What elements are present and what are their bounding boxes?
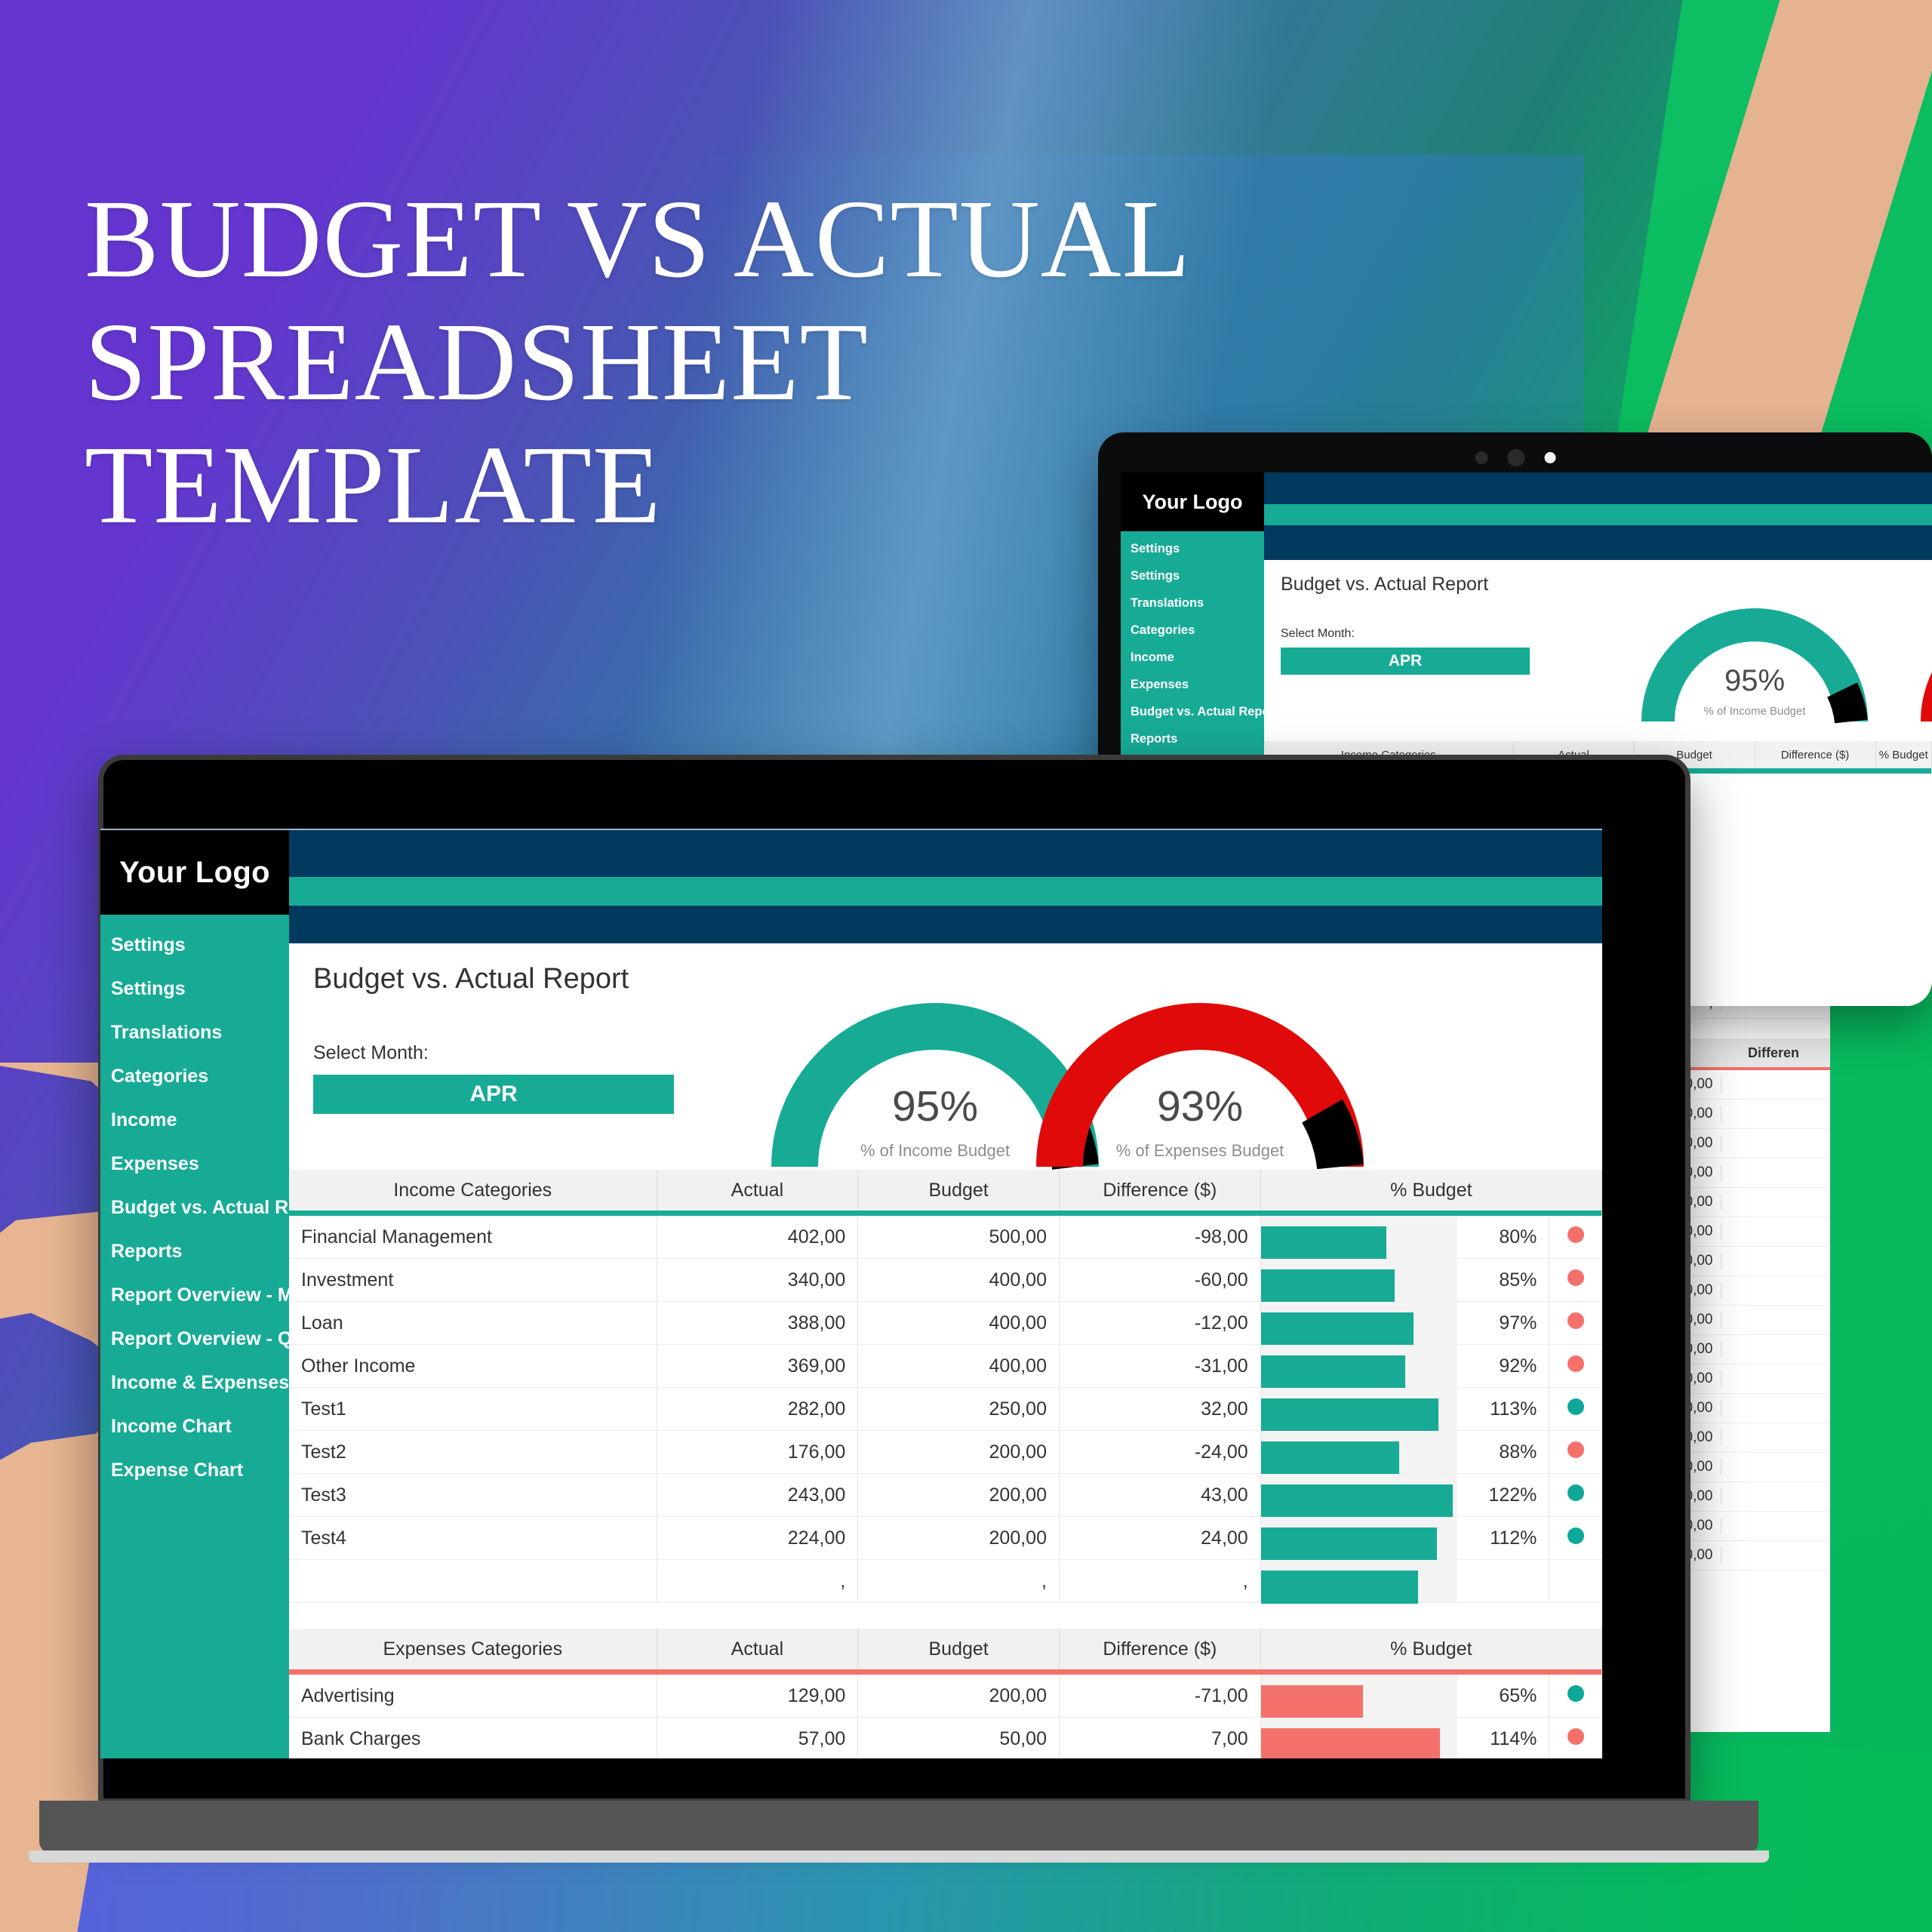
expenses-gauge-caption: % of Expenses Budget [1034, 1141, 1366, 1161]
tablet-expenses-gauge: 93% % of Expenses Budget [1921, 592, 1932, 724]
tablet-logo: Your Logo [1121, 472, 1264, 531]
cell-category: Test3 [289, 1474, 657, 1517]
status-badge [1567, 1685, 1584, 1702]
main-panel: Budget vs. Actual Report Select Month: A… [289, 830, 1602, 1758]
status-badge [1567, 1312, 1584, 1329]
report-area: Budget vs. Actual Report Select Month: A… [289, 943, 1602, 1758]
cell-status [1549, 1474, 1602, 1517]
tablet-sidebar-item-reports[interactable]: Reports [1131, 732, 1264, 746]
cell-category: Test2 [289, 1431, 657, 1474]
sidebar-item-reports[interactable]: Reports [111, 1241, 289, 1263]
tablet-sidebar-item-budget-vs-actual-report[interactable]: Budget vs. Actual Report [1131, 705, 1264, 719]
tablet-income-gauge-caption: % of Income Budget [1641, 705, 1868, 718]
headline-line-2: SPREADSHEET [85, 301, 990, 424]
peach-dot-2 [6, 1648, 29, 1662]
cell-status [1549, 1517, 1602, 1560]
cell-percent-bar [1260, 1718, 1457, 1759]
cell-difference: -12,00 [1059, 1302, 1260, 1345]
cell-actual: 224,00 [657, 1517, 858, 1560]
col-header-budget: % Budget [1260, 1170, 1601, 1211]
cell-percent-label: 85% [1457, 1259, 1549, 1302]
cell-difference: -60,00 [1059, 1259, 1260, 1302]
cell-actual: 282,00 [657, 1388, 858, 1431]
status-badge [1567, 1355, 1584, 1372]
sidebar-item-settings[interactable]: Settings [111, 978, 289, 1000]
cell-category: Other Income [289, 1345, 657, 1388]
col-header-budget: % Budget [1875, 741, 1932, 768]
cell-percent-label: 112% [1457, 1517, 1549, 1560]
cell-budget: 200,00 [858, 1517, 1060, 1560]
tablet-expenses-gauge-value: 93% [1921, 664, 1932, 698]
expenses-table-header-row: Expenses CategoriesActualBudgetDifferenc… [289, 1629, 1602, 1669]
table-row[interactable]: Advertising129,00200,00-71,0065% [289, 1675, 1602, 1718]
sidebar-item-expenses[interactable]: Expenses [111, 1153, 289, 1175]
sidebar: Your Logo SettingsSettingsTranslationsCa… [100, 830, 289, 1758]
cell-difference: 7,00 [1059, 1718, 1260, 1759]
sidebar-item-expense-chart[interactable]: Expense Chart [111, 1460, 289, 1481]
percent-bar-fill [1261, 1355, 1406, 1389]
laptop-screen: Your Logo SettingsSettingsTranslationsCa… [100, 829, 1602, 1758]
cell-actual: 388,00 [657, 1302, 858, 1345]
cell-percent-bar [1260, 1474, 1457, 1517]
table-row[interactable]: Test1282,00250,0032,00113% [289, 1388, 1602, 1431]
cell-difference: -31,00 [1059, 1345, 1260, 1388]
table-row[interactable]: Test2176,00200,00-24,0088% [289, 1431, 1602, 1474]
percent-bar-fill [1261, 1527, 1437, 1561]
tablet-sidebar-item-categories[interactable]: Categories [1131, 623, 1264, 638]
cell-percent-bar [1260, 1302, 1457, 1345]
sidebar-item-categories[interactable]: Categories [111, 1066, 289, 1088]
cell-actual: , [657, 1560, 858, 1603]
income-table-body: Financial Management402,00500,00-98,0080… [289, 1216, 1602, 1603]
headline-line-1: BUDGET VS ACTUAL [85, 178, 990, 301]
income-table-header-row: Income CategoriesActualBudgetDifference … [289, 1170, 1602, 1211]
cell-budget: 250,00 [858, 1388, 1060, 1431]
table-row[interactable]: Test3243,00200,0043,00122% [289, 1474, 1602, 1517]
cell-status [1549, 1345, 1602, 1388]
cell-difference: 24,00 [1059, 1517, 1260, 1560]
cell-actual: 402,00 [657, 1216, 858, 1259]
sensor-dot-icon [1544, 452, 1555, 463]
tablet-sidebar-item-settings[interactable]: Settings [1131, 569, 1264, 583]
status-badge [1567, 1484, 1584, 1501]
cell-percent-bar [1260, 1216, 1457, 1259]
col-header-difference: Difference ($) [1755, 741, 1875, 768]
tables-wrap: Income CategoriesActualBudgetDifference … [289, 1170, 1602, 1758]
laptop-app: Your Logo SettingsSettingsTranslationsCa… [100, 830, 1602, 1758]
cell-category: Test4 [289, 1517, 657, 1560]
cell-percent-bar [1260, 1517, 1457, 1560]
table-row[interactable]: Loan388,00400,00-12,0097% [289, 1302, 1602, 1345]
cell-status [1549, 1259, 1602, 1302]
cell-category [289, 1560, 657, 1603]
expenses-table-body: Advertising129,00200,00-71,0065%Bank Cha… [289, 1675, 1602, 1758]
cell-actual: 340,00 [657, 1259, 858, 1302]
cell-percent-bar [1260, 1675, 1457, 1718]
expenses-table: Expenses CategoriesActualBudgetDifferenc… [289, 1629, 1602, 1758]
col-header-actual: Actual [657, 1170, 858, 1211]
cell-category: Financial Management [289, 1216, 657, 1259]
status-badge [1567, 1527, 1584, 1544]
cell-difference: -24,00 [1059, 1431, 1260, 1474]
col-header-income-categories: Income Categories [289, 1170, 657, 1211]
logo: Your Logo [100, 830, 289, 915]
tablet-header-band-teal [1264, 504, 1932, 525]
cell-category: Advertising [289, 1675, 657, 1718]
cell-budget: 500,00 [858, 1216, 1060, 1259]
cell-difference: 32,00 [1059, 1388, 1260, 1431]
cell-percent-label: 92% [1457, 1345, 1549, 1388]
cell-actual: 243,00 [657, 1474, 858, 1517]
sidebar-item-income-chart[interactable]: Income Chart [111, 1416, 289, 1438]
cell-budget: 200,00 [858, 1474, 1060, 1517]
sidebar-item-budget-vs-actual-report[interactable]: Budget vs. Actual Report [111, 1197, 289, 1219]
percent-bar-fill [1261, 1269, 1395, 1303]
cell-difference: , [1059, 1560, 1260, 1603]
tablet-income-gauge: 95% % of Income Budget [1641, 592, 1868, 724]
cell-status [1549, 1388, 1602, 1431]
sidebar-item-settings[interactable]: Settings [111, 934, 289, 956]
cell-actual: 369,00 [657, 1345, 858, 1388]
col-header-actual: Actual [657, 1629, 858, 1669]
expenses-gauge-value: 93% [1034, 1081, 1366, 1131]
cell-percent-label: 114% [1457, 1718, 1549, 1759]
bg-hdr-difference: Differen [1717, 1045, 1830, 1061]
cell-percent-bar [1260, 1345, 1457, 1388]
cell-percent-bar [1260, 1388, 1457, 1431]
sidebar-item-income[interactable]: Income [111, 1109, 289, 1131]
table-spacer [289, 1603, 1602, 1629]
cell-category: Test1 [289, 1388, 657, 1431]
cell-actual: 176,00 [657, 1431, 858, 1474]
camera-lens-icon [1507, 449, 1524, 466]
tablet-sidebar-item-translations[interactable]: Translations [1131, 596, 1264, 611]
header-rule [289, 1669, 1602, 1675]
cell-category: Loan [289, 1302, 657, 1345]
sidebar-item-report-overview-monthly[interactable]: Report Overview - Monthly [111, 1284, 289, 1306]
table-row[interactable]: ,,, [289, 1560, 1602, 1603]
headline-line-3: TEMPLATE [85, 424, 990, 547]
header-rule [289, 1211, 1602, 1216]
cell-difference: -71,00 [1059, 1675, 1260, 1718]
percent-bar-fill [1261, 1728, 1441, 1758]
table-row[interactable]: Financial Management402,00500,00-98,0080… [289, 1216, 1602, 1259]
cell-status [1549, 1431, 1602, 1474]
cell-percent-label: 97% [1457, 1302, 1549, 1345]
tablet-header-band-blue-top [1264, 472, 1932, 504]
percent-bar-fill [1261, 1484, 1453, 1518]
header-band-blue-top [289, 830, 1602, 877]
status-badge [1567, 1441, 1584, 1458]
tablet-expenses-gauge-caption: % of Expenses Budget [1921, 705, 1932, 718]
cell-percent-bar [1260, 1560, 1457, 1603]
table-row[interactable]: Other Income369,00400,00-31,0092% [289, 1345, 1602, 1388]
cell-percent-bar [1260, 1431, 1457, 1474]
header-band-blue-bottom [289, 906, 1602, 943]
cell-percent-label: 122% [1457, 1474, 1549, 1517]
cell-status [1549, 1675, 1602, 1718]
cell-status [1549, 1216, 1602, 1259]
percent-bar-fill [1261, 1226, 1387, 1260]
header-band-teal [289, 877, 1602, 906]
month-selector[interactable]: APR [313, 1075, 674, 1114]
cell-percent-bar [1260, 1259, 1457, 1302]
tablet-income-gauge-value: 95% [1641, 664, 1868, 698]
cell-category: Bank Charges [289, 1718, 657, 1759]
tablet-camera-dots [1475, 449, 1555, 466]
cell-percent-label: 65% [1457, 1675, 1549, 1718]
sidebar-item-income-expenses[interactable]: Income & Expenses [111, 1372, 289, 1394]
tablet-month-selector[interactable]: APR [1281, 648, 1530, 675]
tablet-sidebar-item-settings[interactable]: Settings [1131, 542, 1264, 556]
cell-budget: 200,00 [858, 1431, 1060, 1474]
percent-bar-fill [1261, 1398, 1438, 1432]
col-header-expenses-categories: Expenses Categories [289, 1629, 657, 1669]
status-badge [1567, 1398, 1584, 1415]
cell-budget: 50,00 [858, 1718, 1060, 1759]
tablet-sidebar-item-income[interactable]: Income [1131, 651, 1264, 665]
cell-difference: -98,00 [1059, 1216, 1260, 1259]
expenses-gauge: 93% % of Expenses Budget [1034, 981, 1366, 1170]
cell-budget: 400,00 [858, 1345, 1060, 1388]
cell-actual: 129,00 [657, 1675, 858, 1718]
cell-budget: 200,00 [858, 1675, 1060, 1718]
tablet-header-band-blue-bottom [1264, 525, 1932, 560]
cell-category: Investment [289, 1259, 657, 1302]
tablet-sidebar-item-expenses[interactable]: Expenses [1131, 678, 1264, 692]
sidebar-item-translations[interactable]: Translations [111, 1022, 289, 1044]
income-table: Income CategoriesActualBudgetDifference … [289, 1170, 1602, 1603]
cell-percent-label: 88% [1457, 1431, 1549, 1474]
sidebar-menu[interactable]: SettingsSettingsTranslationsCategoriesIn… [100, 915, 289, 1481]
col-header-budget: Budget [858, 1629, 1060, 1669]
cell-percent-label: 80% [1457, 1216, 1549, 1259]
laptop-base [39, 1801, 1758, 1854]
status-badge [1567, 1728, 1584, 1745]
camera-dot-small [1475, 451, 1487, 464]
percent-bar-fill [1261, 1571, 1418, 1604]
status-badge [1567, 1226, 1584, 1243]
sidebar-item-report-overview-quarterly[interactable]: Report Overview - Quarterly [111, 1328, 289, 1350]
col-header-difference: Difference ($) [1059, 1170, 1260, 1211]
cell-budget: 400,00 [858, 1259, 1060, 1302]
cell-difference: 43,00 [1059, 1474, 1260, 1517]
cell-actual: 57,00 [657, 1718, 858, 1759]
cell-percent-label [1457, 1560, 1549, 1603]
percent-bar-fill [1261, 1312, 1414, 1346]
table-row[interactable]: Bank Charges57,0050,007,00114% [289, 1718, 1602, 1759]
cell-budget: , [858, 1560, 1060, 1603]
cell-status [1549, 1718, 1602, 1759]
cell-percent-label: 113% [1457, 1388, 1549, 1431]
col-header-budget: % Budget [1260, 1629, 1601, 1669]
percent-bar-fill [1261, 1685, 1363, 1718]
page-title: BUDGET VS ACTUAL SPREADSHEET TEMPLATE [85, 178, 990, 546]
cell-status [1549, 1560, 1602, 1603]
col-header-budget: Budget [858, 1170, 1060, 1211]
status-badge [1567, 1269, 1584, 1286]
cell-budget: 400,00 [858, 1302, 1060, 1345]
cell-status [1549, 1302, 1602, 1345]
laptop-foot [29, 1850, 1769, 1863]
table-row[interactable]: Investment340,00400,00-60,0085% [289, 1259, 1602, 1302]
percent-bar-fill [1261, 1441, 1399, 1475]
col-header-difference: Difference ($) [1059, 1629, 1260, 1669]
table-row[interactable]: Test4224,00200,0024,00112% [289, 1517, 1602, 1560]
